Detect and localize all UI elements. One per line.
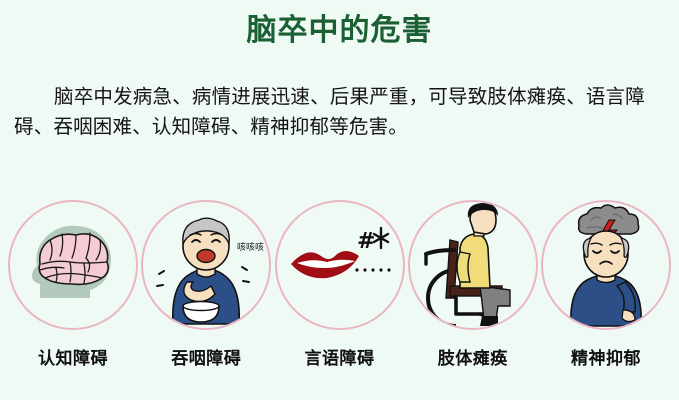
- symptom-circle: #: [275, 200, 405, 330]
- symptom-label: 吞咽障碍: [171, 344, 241, 369]
- garble-star-symbol: [374, 228, 388, 248]
- page-title: 脑卒中的危害: [0, 10, 679, 52]
- symptom-item-swallowing-disorder[interactable]: 咳咳咳 吞咽障碍: [141, 200, 271, 380]
- symptom-circle: [408, 200, 538, 330]
- symptom-label: 肢体瘫痪: [438, 344, 508, 369]
- wheelchair-person-icon: [410, 202, 536, 328]
- garble-hash-symbol: #: [357, 229, 375, 254]
- head-brain-icon: [10, 202, 136, 328]
- choking-elderly-icon: 咳咳咳: [143, 202, 269, 328]
- symptom-label: 言语障碍: [305, 344, 375, 369]
- lips-garbled-speech-icon: #: [277, 202, 403, 328]
- depressed-elderly-stormcloud-icon: [543, 202, 669, 328]
- symptom-item-cognitive-impairment[interactable]: 认知障碍: [8, 200, 138, 380]
- symptom-label: 精神抑郁: [571, 344, 641, 369]
- symptom-label: 认知障碍: [38, 344, 108, 369]
- symptom-item-speech-disorder[interactable]: # 言语障碍: [275, 200, 405, 380]
- symptom-item-limb-paralysis[interactable]: 肢体瘫痪: [408, 200, 538, 380]
- slide-canvas: 脑卒中的危害 脑卒中发病急、病情进展迅速、后果严重，可导致肢体瘫痪、语言障碍、吞…: [0, 0, 679, 400]
- symptom-item-mental-depression[interactable]: 精神抑郁: [541, 200, 671, 380]
- symptom-icon-row: 认知障碍: [0, 200, 679, 380]
- symptom-circle: [541, 200, 671, 330]
- speech-dots: [355, 268, 390, 271]
- symptom-circle: 咳咳咳: [141, 200, 271, 330]
- cough-sound-text: 咳咳咳: [237, 241, 264, 253]
- symptom-circle: [8, 200, 138, 330]
- body-paragraph: 脑卒中发病急、病情进展迅速、后果严重，可导致肢体瘫痪、语言障碍、吞咽困难、认知障…: [14, 82, 665, 142]
